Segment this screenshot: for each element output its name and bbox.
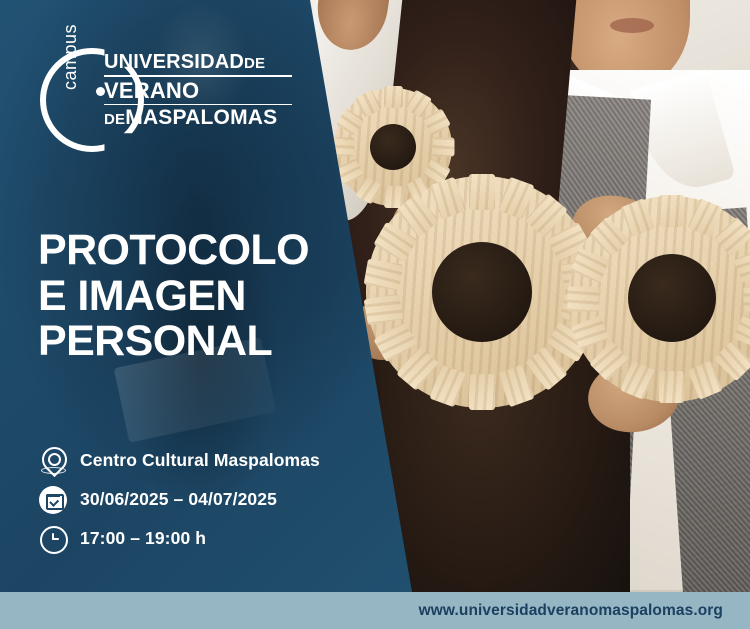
logo-de-word-1: DE xyxy=(244,55,265,72)
university-logo[interactable]: campus UNIVERSIDADDE VERANO DEMASPALOMAS xyxy=(40,46,290,146)
event-time-text: 17:00 – 19:00 h xyxy=(80,528,206,549)
footer-bar: www.universidadveranomaspalomas.org xyxy=(0,592,750,629)
gear-tooth xyxy=(432,138,454,157)
event-location-row: Centro Cultural Maspalomas xyxy=(38,441,368,480)
location-pin-icon xyxy=(38,446,68,476)
gear-tooth xyxy=(384,186,403,208)
wooden-gear-large-icon xyxy=(366,176,598,408)
logo-divider-2 xyxy=(104,104,292,106)
promotional-poster: campus UNIVERSIDADDE VERANO DEMASPALOMAS… xyxy=(0,0,750,629)
title-line-2: E IMAGEN xyxy=(38,274,338,320)
photo-woman-lips xyxy=(610,18,654,33)
event-details: Centro Cultural Maspalomas 30/06/2025 – … xyxy=(38,441,368,558)
title-line-3: PERSONAL xyxy=(38,319,338,365)
event-date-row: 30/06/2025 – 04/07/2025 xyxy=(38,480,368,519)
gear-tooth xyxy=(469,174,495,210)
gear-tooth xyxy=(659,371,684,403)
website-url[interactable]: www.universidadveranomaspalomas.org xyxy=(419,602,723,620)
page-title: PROTOCOLO E IMAGEN PERSONAL xyxy=(38,228,338,365)
logo-campus-word: campus xyxy=(60,24,81,90)
gear-tooth xyxy=(469,374,495,410)
clock-icon xyxy=(38,524,68,554)
title-line-1: PROTOCOLO xyxy=(38,228,338,274)
gear-tooth xyxy=(384,86,403,108)
gear-tooth xyxy=(659,195,684,227)
logo-divider-1 xyxy=(104,75,292,77)
calendar-check-icon xyxy=(38,485,68,515)
event-location-text: Centro Cultural Maspalomas xyxy=(80,450,320,471)
logo-maspalomas-word: MASPALOMAS xyxy=(125,106,277,129)
gear-tooth xyxy=(743,287,750,312)
event-time-row: 17:00 – 19:00 h xyxy=(38,519,368,558)
gear-tooth xyxy=(567,287,599,312)
logo-universidad-word: UNIVERSIDAD xyxy=(104,51,244,73)
event-date-text: 30/06/2025 – 04/07/2025 xyxy=(80,489,277,510)
logo-text-block: UNIVERSIDADDE VERANO DEMASPALOMAS xyxy=(104,52,292,129)
logo-de-word-2: DE xyxy=(104,111,125,128)
logo-line-verano: VERANO xyxy=(104,79,292,102)
logo-line-maspalomas: DEMASPALOMAS xyxy=(104,107,292,129)
logo-line-universidad: UNIVERSIDADDE xyxy=(104,52,292,73)
